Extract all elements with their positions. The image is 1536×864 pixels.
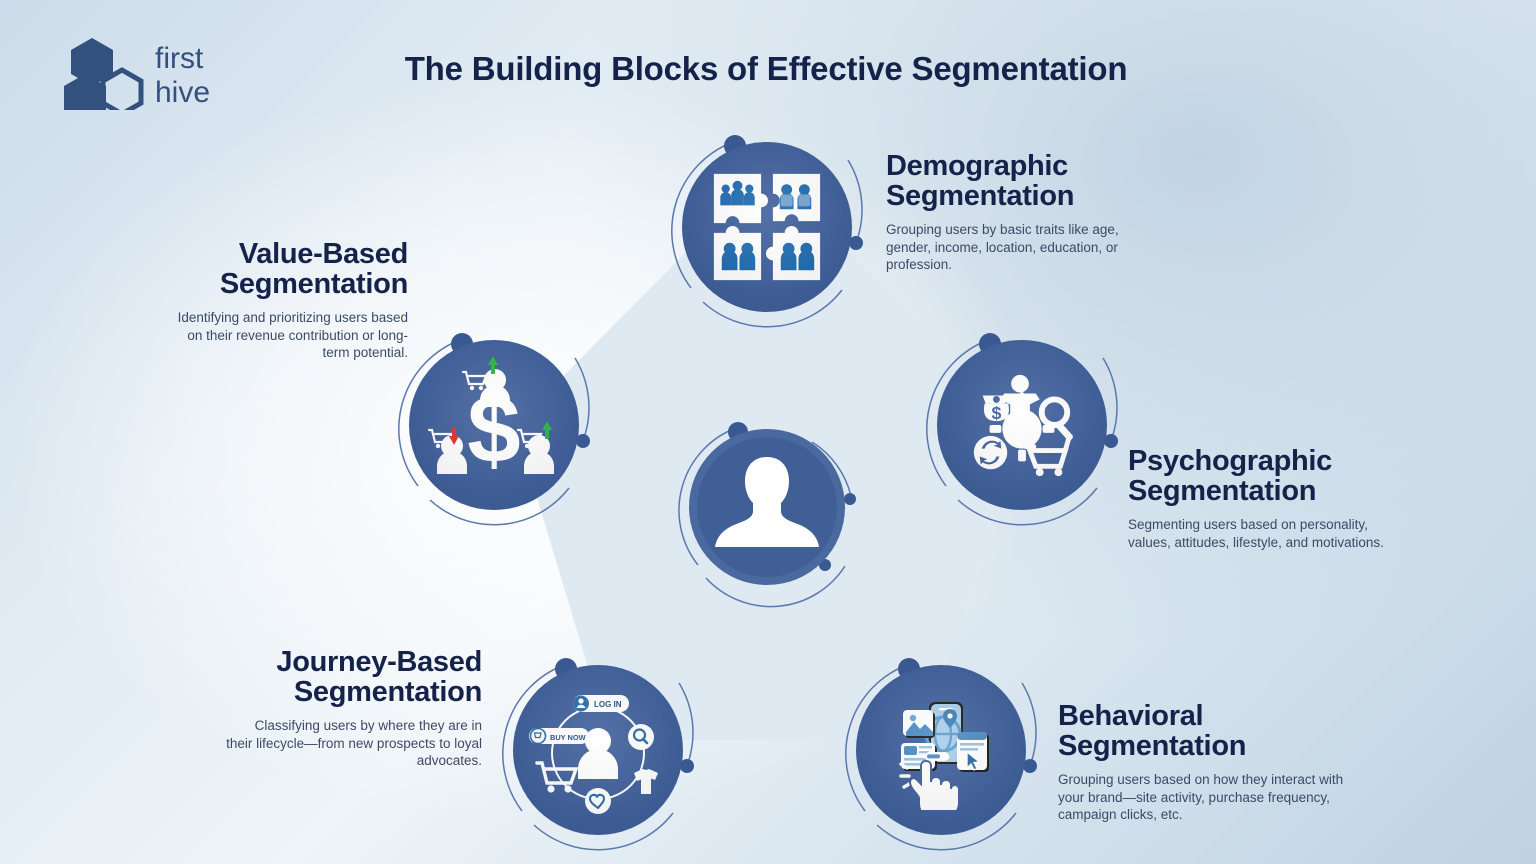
body-psychographic: Segmenting users based on personality, v… [1128, 516, 1388, 552]
dollar-sign: $ [467, 376, 520, 483]
node-center-customer[interactable] [689, 429, 845, 585]
page-title: The Building Blocks of Effective Segment… [336, 50, 1196, 88]
body-journey: Classifying users by where they are in t… [226, 717, 482, 770]
heading-value: Value-Based Segmentation [166, 240, 408, 300]
customer-journey-icon: LOG IN BUY NOW [523, 675, 673, 825]
consumer-insights-icon: $ [963, 366, 1081, 484]
node-value[interactable]: $ [409, 340, 579, 510]
cart-right [518, 430, 541, 442]
text-demographic: Demographic Segmentation Grouping users … [886, 152, 1156, 274]
person-right [524, 435, 554, 474]
body-demographic: Grouping users by basic traits like age,… [886, 221, 1156, 274]
brand-name-line1: first [155, 42, 204, 75]
buynow-badge: BUY NOW [529, 728, 589, 744]
brand-name-line2: hive [155, 76, 210, 109]
login-badge: LOG IN [573, 695, 629, 712]
heading-demographic-line1: Demographic [886, 150, 1068, 182]
heading-journey-line1: Journey-Based [276, 646, 482, 678]
node-journey[interactable]: LOG IN BUY NOW [513, 665, 683, 835]
center-circle[interactable] [689, 429, 845, 585]
heart-badge-icon [585, 788, 611, 814]
psychographic-circle[interactable]: $ [937, 340, 1107, 510]
brand-logo[interactable]: first hive [60, 30, 360, 110]
arrow-down-red-left [449, 427, 459, 445]
heading-behavioral-line2: Segmentation [1058, 730, 1246, 762]
search-badge-icon [628, 724, 654, 750]
heading-journey-line2: Segmentation [294, 676, 482, 708]
cart-top [463, 372, 486, 384]
heading-psychographic-line2: Segmentation [1128, 475, 1316, 507]
node-demographic[interactable] [682, 142, 852, 312]
person-top [480, 369, 510, 407]
puzzle-people-icon [708, 168, 826, 286]
text-value: Value-Based Segmentation Identifying and… [166, 240, 408, 362]
behavioral-circle[interactable] [856, 665, 1026, 835]
user-avatar-icon [707, 447, 827, 567]
body-value: Identifying and prioritizing users based… [166, 309, 408, 362]
heading-psychographic: Psychographic Segmentation [1128, 447, 1388, 507]
arrow-up-green-right [542, 421, 552, 439]
dot-center-right [844, 493, 856, 505]
body-behavioral: Grouping users based on how they interac… [1058, 771, 1370, 824]
journey-circle[interactable]: LOG IN BUY NOW [513, 665, 683, 835]
tshirt-icon [634, 769, 658, 794]
text-journey: Journey-Based Segmentation Classifying u… [226, 648, 482, 770]
heading-psychographic-line1: Psychographic [1128, 445, 1332, 477]
heading-behavioral: Behavioral Segmentation [1058, 702, 1378, 762]
text-behavioral: Behavioral Segmentation Grouping users b… [1058, 702, 1378, 824]
heading-demographic: Demographic Segmentation [886, 152, 1156, 212]
buynow-badge-label: BUY NOW [550, 733, 586, 742]
node-psychographic[interactable]: $ [937, 340, 1107, 510]
heading-value-line1: Value-Based [239, 238, 408, 270]
login-badge-label: LOG IN [594, 700, 622, 709]
arrow-up-green-top [488, 356, 498, 374]
svg-text:$: $ [992, 403, 1002, 423]
cart-icon [537, 763, 576, 783]
mobile-tap-icon [881, 690, 1001, 810]
value-circle[interactable]: $ [409, 340, 579, 510]
person-left [437, 435, 467, 474]
cart-left [429, 430, 452, 442]
heading-behavioral-line1: Behavioral [1058, 700, 1203, 732]
dollar-customers-icon: $ [419, 350, 569, 500]
hexagon-logo-icon [64, 38, 141, 110]
demographic-circle[interactable] [682, 142, 852, 312]
text-psychographic: Psychographic Segmentation Segmenting us… [1128, 447, 1388, 551]
heading-demographic-line2: Segmentation [886, 180, 1074, 212]
infographic-canvas: first hive The Building Blocks of Effect… [0, 0, 1536, 864]
heading-journey: Journey-Based Segmentation [226, 648, 482, 708]
node-behavioral[interactable] [856, 665, 1026, 835]
heading-value-line2: Segmentation [220, 268, 408, 300]
